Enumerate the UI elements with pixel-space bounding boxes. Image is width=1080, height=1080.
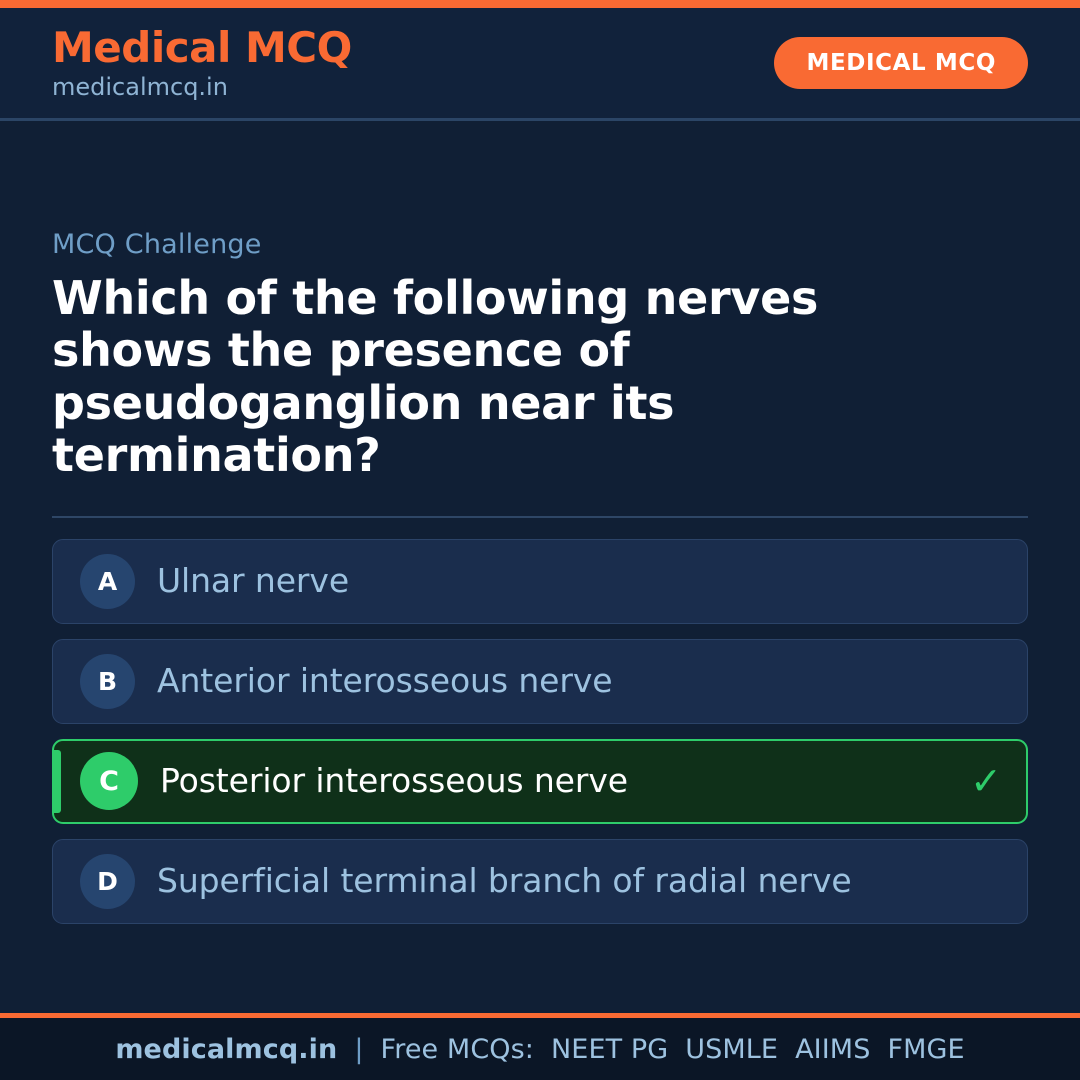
- brand-block: Medical MCQ medicalmcq.in: [52, 26, 352, 100]
- option-letter-d: D: [80, 854, 135, 909]
- option-text-d: Superficial terminal branch of radial ne…: [157, 863, 1003, 899]
- section-divider: [52, 516, 1028, 518]
- footer-site: medicalmcq.in: [115, 1034, 337, 1065]
- check-icon: ✓: [970, 762, 1002, 800]
- option-b[interactable]: B Anterior interosseous nerve: [52, 639, 1028, 724]
- option-text-a: Ulnar nerve: [157, 563, 1003, 599]
- footer-exam-fmge: FMGE: [887, 1034, 964, 1065]
- option-a[interactable]: A Ulnar nerve: [52, 539, 1028, 624]
- header: Medical MCQ medicalmcq.in MEDICAL MCQ: [0, 8, 1080, 121]
- top-accent-bar: [0, 0, 1080, 8]
- option-text-c: Posterior interosseous nerve: [160, 763, 954, 799]
- brand-title: Medical MCQ: [52, 26, 352, 70]
- footer: medicalmcq.in | Free MCQs: NEET PG USMLE…: [0, 1018, 1080, 1080]
- footer-exam-neet-pg: NEET PG: [551, 1034, 668, 1065]
- main-content: MCQ Challenge Which of the following ner…: [0, 121, 1080, 1013]
- footer-exam-aiims: AIIMS: [795, 1034, 870, 1065]
- footer-exam-usmle: USMLE: [685, 1034, 778, 1065]
- option-d[interactable]: D Superficial terminal branch of radial …: [52, 839, 1028, 924]
- option-letter-c: C: [80, 752, 138, 810]
- option-c[interactable]: C Posterior interosseous nerve ✓: [52, 739, 1028, 824]
- mcq-card: Medical MCQ medicalmcq.in MEDICAL MCQ MC…: [0, 0, 1080, 1080]
- option-letter-b: B: [80, 654, 135, 709]
- options-list: A Ulnar nerve B Anterior interosseous ne…: [52, 539, 1028, 924]
- brand-subtitle: medicalmcq.in: [52, 74, 352, 100]
- footer-prefix: Free MCQs:: [381, 1034, 534, 1065]
- eyebrow-label: MCQ Challenge: [52, 229, 1028, 260]
- footer-separator: |: [354, 1034, 363, 1065]
- option-text-b: Anterior interosseous nerve: [157, 663, 1003, 699]
- header-badge: MEDICAL MCQ: [774, 37, 1028, 89]
- option-letter-a: A: [80, 554, 135, 609]
- question-text: Which of the following nerves shows the …: [52, 272, 952, 482]
